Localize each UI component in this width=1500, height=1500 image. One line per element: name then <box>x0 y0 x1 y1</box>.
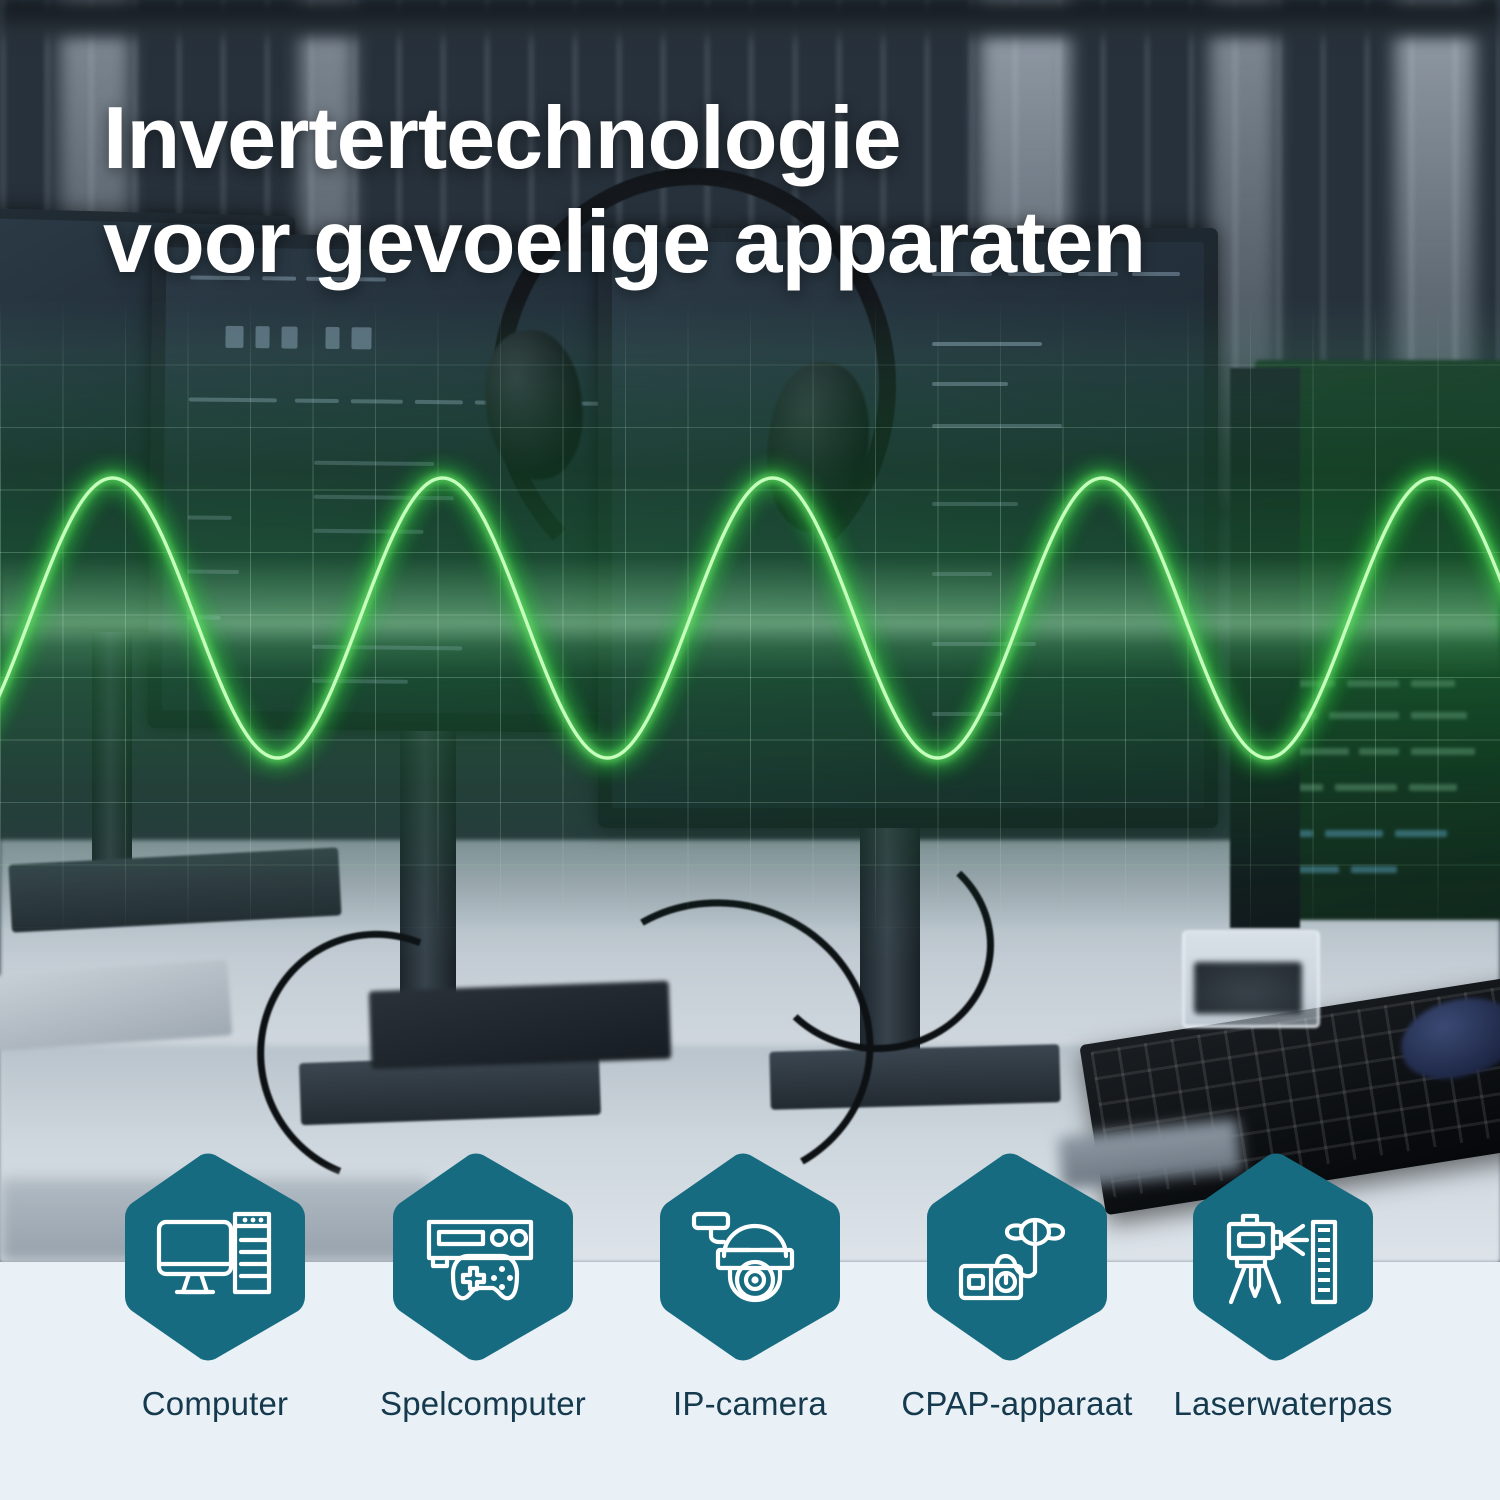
device-badge-game-console[interactable] <box>390 1152 576 1362</box>
cpap-machine-mask-icon <box>957 1210 1077 1306</box>
keyboard-center-blurred <box>369 981 672 1069</box>
cable-center <box>760 838 994 1052</box>
page-title: Invertertechnologie voor gevoelige appar… <box>103 86 1303 294</box>
jar-contents <box>1194 962 1302 1014</box>
infographic-banner: Invertertechnologie voor gevoelige appar… <box>0 0 1500 1500</box>
device-label-ip-camera: IP-camera <box>600 1385 900 1423</box>
ceiling-band <box>0 0 1500 38</box>
laser-level-tripod-icon <box>1223 1210 1343 1306</box>
device-badge-computer[interactable] <box>122 1152 308 1362</box>
monitor-left-stand <box>92 632 132 862</box>
desktop-computer-icon <box>155 1210 275 1306</box>
device-badge-cpap[interactable] <box>924 1152 1110 1362</box>
pc-tower-right <box>1230 368 1300 928</box>
device-label-cpap: CPAP-apparaat <box>867 1385 1167 1423</box>
dome-security-camera-icon <box>690 1210 810 1306</box>
device-badge-laser-level[interactable] <box>1190 1152 1376 1362</box>
device-label-spelcomputer: Spelcomputer <box>333 1385 633 1423</box>
device-badge-ip-camera[interactable] <box>657 1152 843 1362</box>
device-label-computer: Computer <box>65 1385 365 1423</box>
device-label-laserwaterpas: Laserwaterpas <box>1133 1385 1433 1423</box>
game-console-controller-icon <box>423 1210 543 1306</box>
